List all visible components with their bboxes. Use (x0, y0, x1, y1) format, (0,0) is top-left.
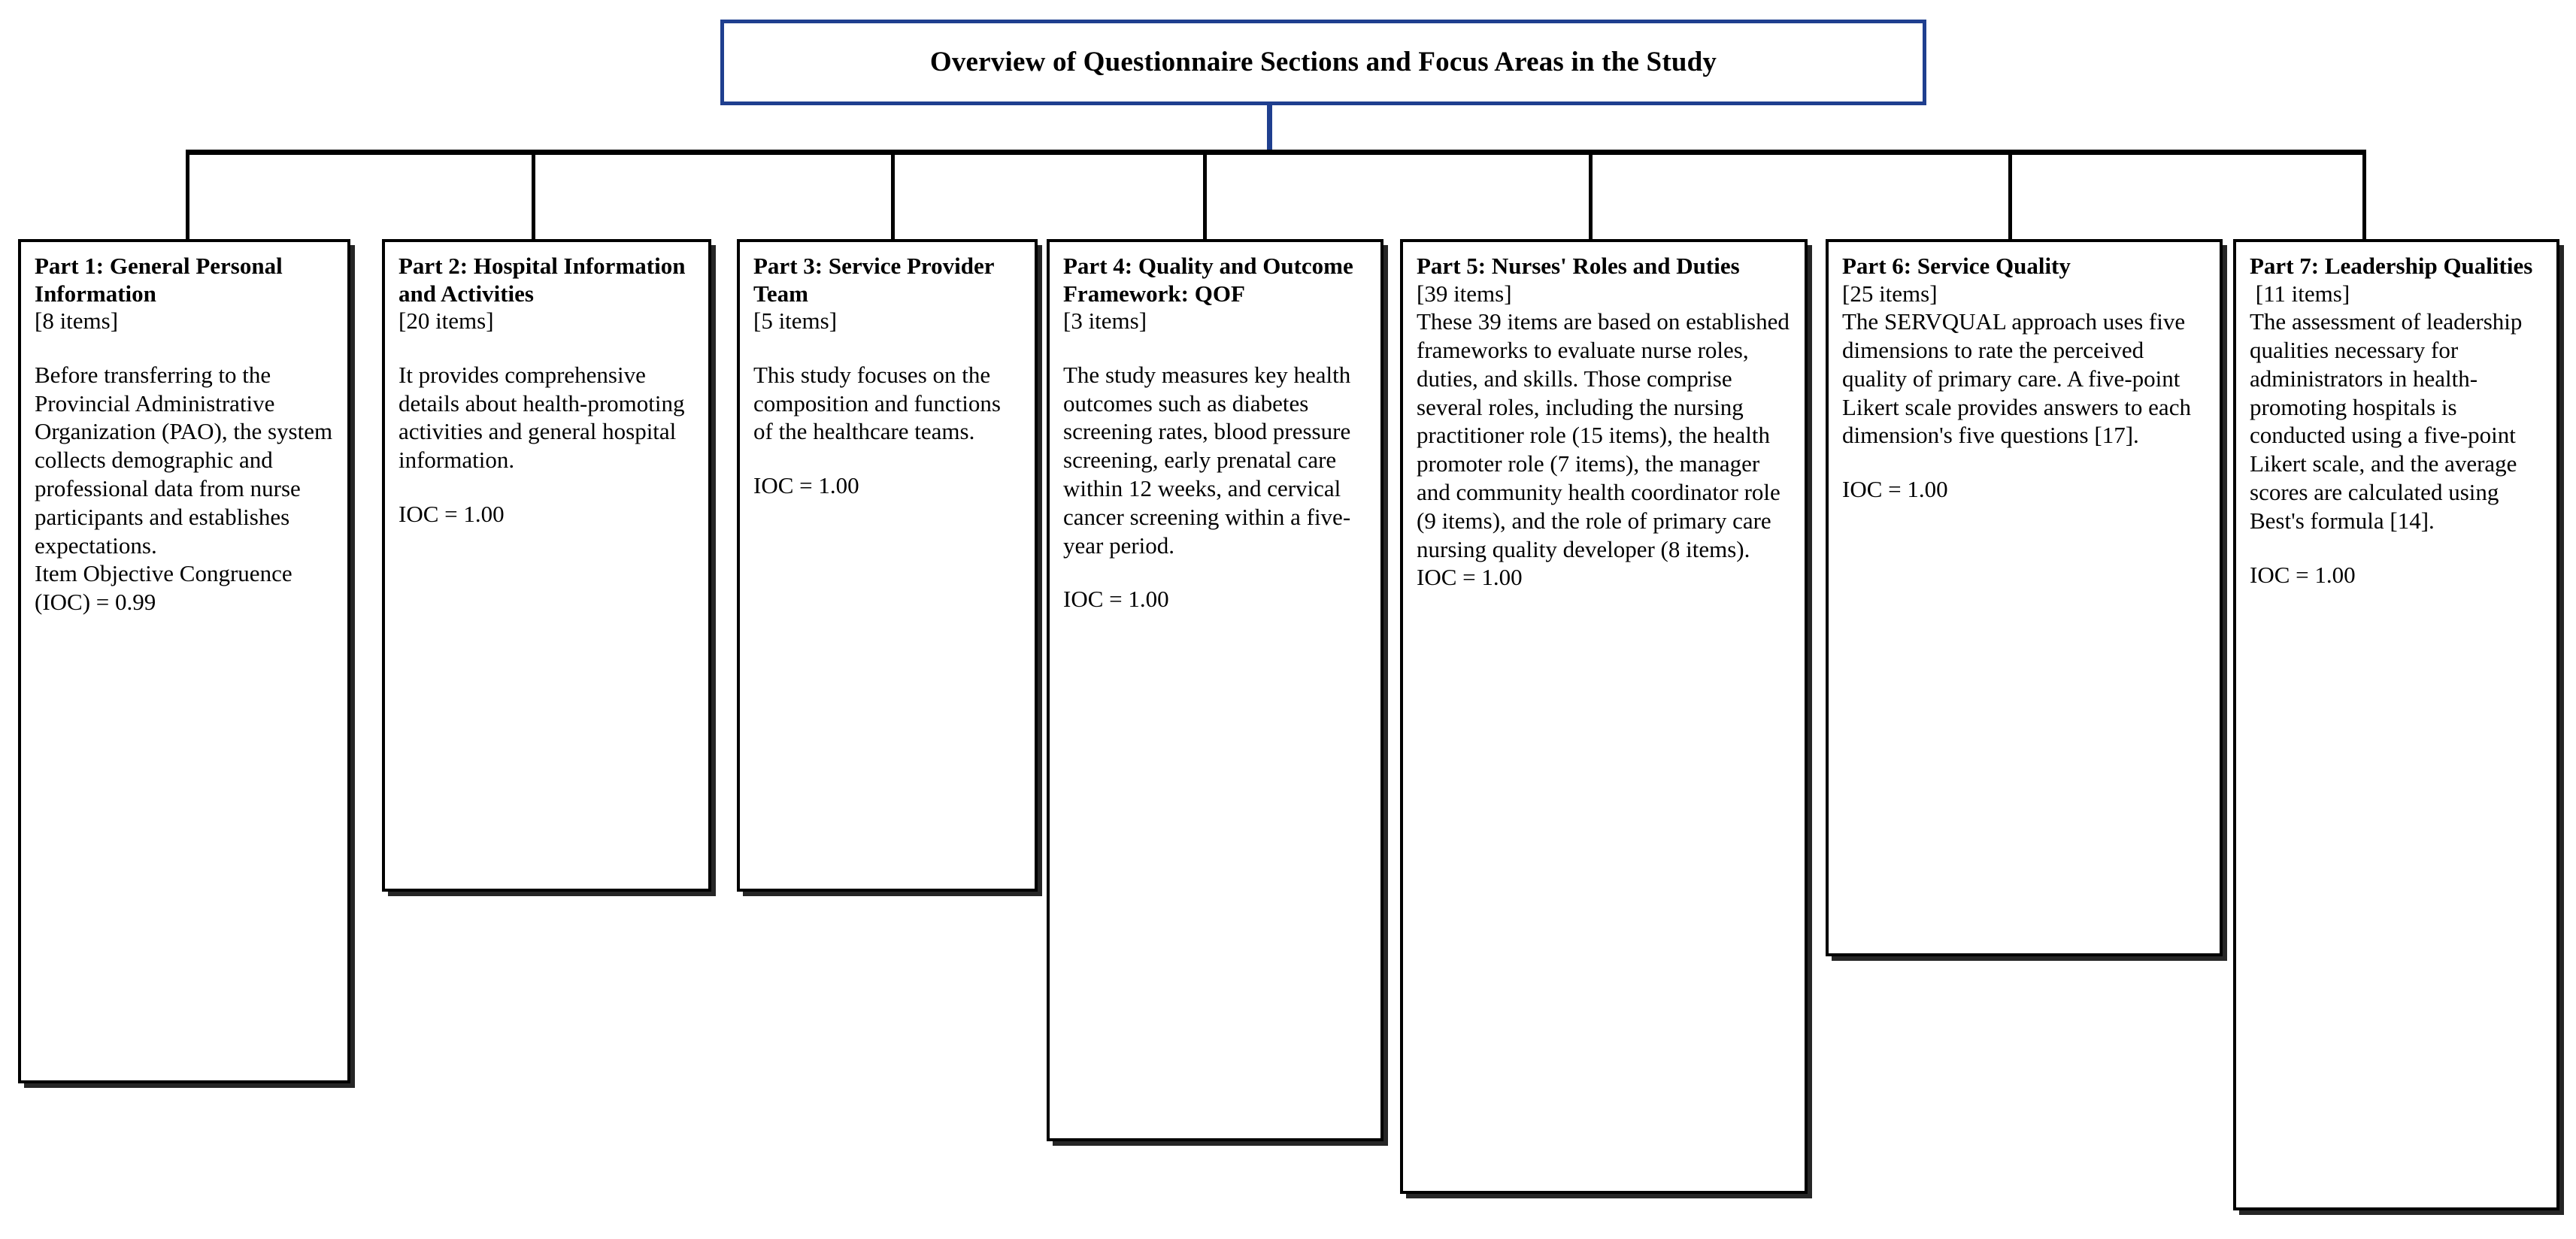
org-chart-canvas: Overview of Questionnaire Sections and F… (0, 0, 2576, 1239)
part-box-1[interactable]: Part 1: General Personal Information [8 … (18, 239, 350, 1083)
part-5-description: These 39 items are based on established … (1417, 307, 1791, 563)
part-4-ioc: IOC = 1.00 (1063, 585, 1367, 613)
part-7-heading: Part 7: Leadership Qualities (2250, 253, 2543, 280)
part-2-heading: Part 2: Hospital Information and Activit… (399, 253, 695, 307)
part-2-items: [20 items] (399, 307, 695, 335)
part-1-ioc: Item Objective Congruence (IOC) = 0.99 (35, 559, 334, 616)
chart-title-box: Overview of Questionnaire Sections and F… (720, 20, 1926, 105)
connector-drop-part-6 (2008, 150, 2012, 242)
part-box-3[interactable]: Part 3: Service Provider Team [5 items] … (737, 239, 1038, 892)
part-box-5[interactable]: Part 5: Nurses' Roles and Duties [39 ite… (1400, 239, 1808, 1194)
part-5-ioc: IOC = 1.00 (1417, 563, 1791, 592)
part-box-4[interactable]: Part 4: Quality and Outcome Framework: Q… (1047, 239, 1383, 1141)
part-5-heading: Part 5: Nurses' Roles and Duties (1417, 253, 1791, 280)
part-box-2[interactable]: Part 2: Hospital Information and Activit… (382, 239, 711, 892)
part-3-heading: Part 3: Service Provider Team (753, 253, 1021, 307)
part-box-7[interactable]: Part 7: Leadership Qualities [11 items] … (2233, 239, 2559, 1210)
part-1-items: [8 items] (35, 307, 334, 335)
part-1-description: Before transferring to the Provincial Ad… (35, 361, 334, 560)
part-3-items: [5 items] (753, 307, 1021, 335)
connector-drop-part-2 (532, 150, 535, 242)
part-7-description: The assessment of leadership qualities n… (2250, 307, 2543, 535)
part-6-heading: Part 6: Service Quality (1842, 253, 2206, 280)
connector-trunk (186, 150, 2366, 155)
part-4-heading: Part 4: Quality and Outcome Framework: Q… (1063, 253, 1367, 307)
part-3-ioc: IOC = 1.00 (753, 471, 1021, 500)
part-4-description: The study measures key health outcomes s… (1063, 361, 1367, 560)
connector-drop-part-7 (2362, 150, 2366, 242)
connector-drop-part-5 (1589, 150, 1593, 242)
title-connector-stem (1267, 105, 1272, 153)
part-6-ioc: IOC = 1.00 (1842, 475, 2206, 504)
part-2-description: It provides comprehensive details about … (399, 361, 695, 474)
part-4-items: [3 items] (1063, 307, 1367, 335)
connector-drop-part-3 (891, 150, 895, 242)
part-2-ioc: IOC = 1.00 (399, 500, 695, 529)
connector-drop-part-4 (1203, 150, 1207, 242)
connector-drop-part-1 (186, 150, 189, 242)
part-5-items: [39 items] (1417, 280, 1791, 308)
part-6-description: The SERVQUAL approach uses five dimensio… (1842, 307, 2206, 450)
part-1-heading: Part 1: General Personal Information (35, 253, 334, 307)
part-6-items: [25 items] (1842, 280, 2206, 308)
part-7-ioc: IOC = 1.00 (2250, 561, 2543, 589)
part-box-6[interactable]: Part 6: Service Quality [25 items] The S… (1826, 239, 2223, 956)
part-7-items: [11 items] (2250, 280, 2543, 308)
page-title: Overview of Questionnaire Sections and F… (930, 46, 1717, 79)
part-3-description: This study focuses on the composition an… (753, 361, 1021, 446)
